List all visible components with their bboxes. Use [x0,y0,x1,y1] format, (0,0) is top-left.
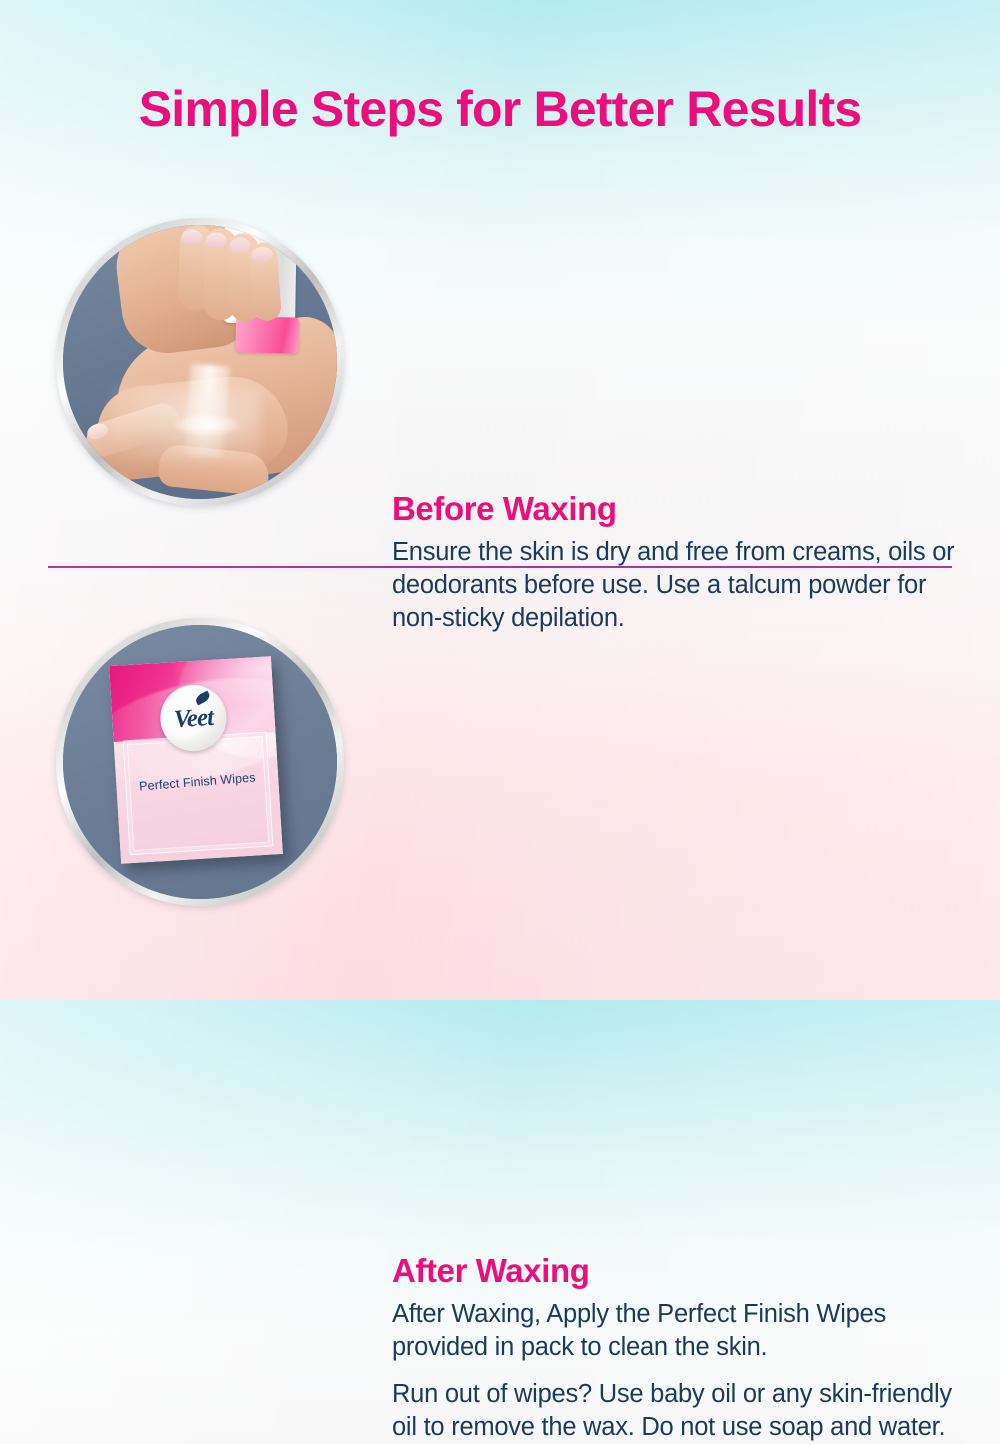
section-divider [48,566,952,568]
fingernail-2 [206,232,227,248]
before-waxing-text-block: Before Waxing Ensure the skin is dry and… [392,492,958,635]
upper-hand-shape [111,225,252,358]
before-waxing-photo [63,225,337,499]
before-waxing-heading: Before Waxing [392,492,958,527]
after-waxing-photo: Veet Perfect Finish Wipes [63,625,337,899]
after-waxing-text-block: After Waxing After Waxing, Apply the Per… [392,1254,958,1444]
after-waxing-heading: After Waxing [392,1254,958,1289]
before-waxing-image-circle [56,218,344,506]
after-waxing-paragraph-2: Run out of wipes? Use baby oil or any sk… [392,1378,958,1444]
veet-brand-text: Veet [173,704,214,734]
veet-wipes-scene: Veet Perfect Finish Wipes [63,625,337,899]
after-waxing-image-circle: Veet Perfect Finish Wipes [56,618,344,906]
talcum-powder-scene [63,225,337,499]
section-after-waxing: Veet Perfect Finish Wipes After Waxing A… [0,618,1000,918]
powder-stream [184,364,230,459]
section-before-waxing: Before Waxing Ensure the skin is dry and… [0,218,1000,518]
veet-wipes-sachet: Veet Perfect Finish Wipes [109,656,283,864]
talcum-bottle-pink-cap [235,316,299,353]
page-title: Simple Steps for Better Results [0,80,1000,138]
after-waxing-paragraph-1: After Waxing, Apply the Perfect Finish W… [392,1298,958,1364]
